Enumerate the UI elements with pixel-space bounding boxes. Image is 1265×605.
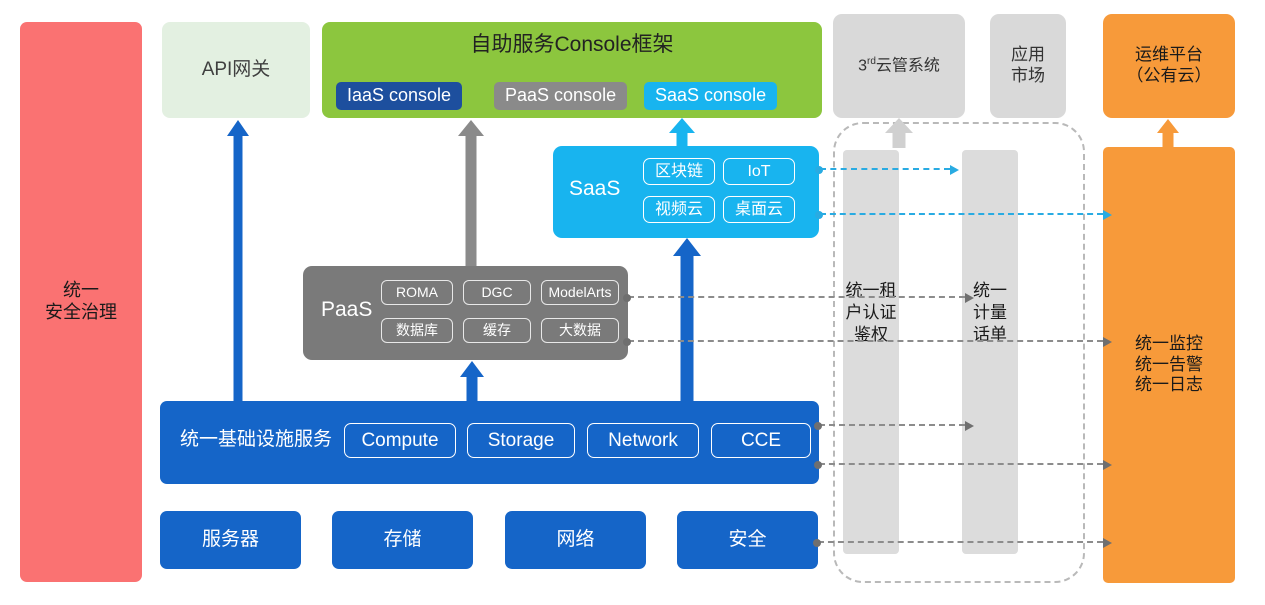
paas-layer-box: PaaS ROMA DGC ModelArts 数据库 缓存 大数据 [303,266,628,360]
paas-chip-modelarts[interactable]: ModelArts [541,280,619,305]
saas-chip-blockchain[interactable]: 区块链 [643,158,715,185]
hardware-box-storage[interactable]: 存储 [332,511,473,569]
security-governance-column: 统一 安全治理 [20,22,142,582]
dashed-arrow-hardware-to-ops [818,541,1103,543]
saas-layer-box: SaaS 区块链 IoT 视频云 桌面云 [553,146,819,238]
saas-chip-desktop-cloud[interactable]: 桌面云 [723,196,795,223]
paas-layer-label: PaaS [321,297,372,323]
gray-column-metering [962,150,1018,554]
hardware-box-server[interactable]: 服务器 [160,511,301,569]
paas-chip-bigdata[interactable]: 大数据 [541,318,619,343]
gray-column-tenant-auth-label: 统一租 户认证 鉴权 [841,280,901,345]
arrow-infra-to-paas [460,361,484,401]
console-framework-box: 自助服务Console框架 IaaS console PaaS console … [322,22,822,118]
arrow-paas-to-console [458,120,484,266]
dashed-arrow-infra-to-ops [819,463,1103,465]
architecture-diagram: 统一 安全治理 API网关 自助服务Console框架 IaaS console… [0,0,1265,605]
infra-chip-network[interactable]: Network [587,423,699,458]
gray-column-tenant-auth [843,150,899,554]
arrow-saas-to-console [669,118,695,148]
paas-chip-cache[interactable]: 缓存 [463,318,531,343]
paas-chip-database[interactable]: 数据库 [381,318,453,343]
arrow-ops-column-to-platform [1157,119,1179,148]
ops-platform-box: 运维平台 （公有云） [1103,14,1235,118]
dashed-arrow-saas-to-metering [820,168,950,170]
infrastructure-label: 统一基础设施服务 [180,428,332,451]
saas-console-chip[interactable]: SaaS console [644,82,777,110]
gray-column-metering-label: 统一 计量 话单 [960,280,1020,345]
paas-console-chip[interactable]: PaaS console [494,82,627,110]
dashed-arrow-saas-to-ops [820,213,1103,215]
third-party-label: 3rd云管系统 [858,56,940,76]
paas-chip-dgc[interactable]: DGC [463,280,531,305]
saas-layer-label: SaaS [569,176,620,202]
arrow-region-to-third-party [886,118,912,148]
infra-chip-compute[interactable]: Compute [344,423,456,458]
saas-chip-video-cloud[interactable]: 视频云 [643,196,715,223]
console-framework-title: 自助服务Console框架 [322,32,822,58]
dashed-arrow-paas-to-tenant-auth [628,296,965,298]
api-gateway-box: API网关 [162,22,310,118]
infra-chip-storage[interactable]: Storage [467,423,575,458]
dashed-arrow-paas-to-ops [628,340,1103,342]
app-market-box: 应用 市场 [990,14,1066,118]
infrastructure-service-bar: 统一基础设施服务 Compute Storage Network CCE [160,401,819,484]
saas-chip-iot[interactable]: IoT [723,158,795,185]
iaas-console-chip[interactable]: IaaS console [336,82,462,110]
hardware-box-security[interactable]: 安全 [677,511,818,569]
dashed-arrow-infra-to-tenant-auth [819,424,965,426]
third-party-cloud-mgmt-box: 3rd云管系统 [833,14,965,118]
hardware-box-network[interactable]: 网络 [505,511,646,569]
ops-monitoring-column: 统一监控 统一告警 统一日志 [1103,147,1235,583]
arrow-infra-to-api-gateway [226,120,250,401]
arrow-infra-to-saas [674,238,700,401]
paas-chip-roma[interactable]: ROMA [381,280,453,305]
infra-chip-cce[interactable]: CCE [711,423,811,458]
